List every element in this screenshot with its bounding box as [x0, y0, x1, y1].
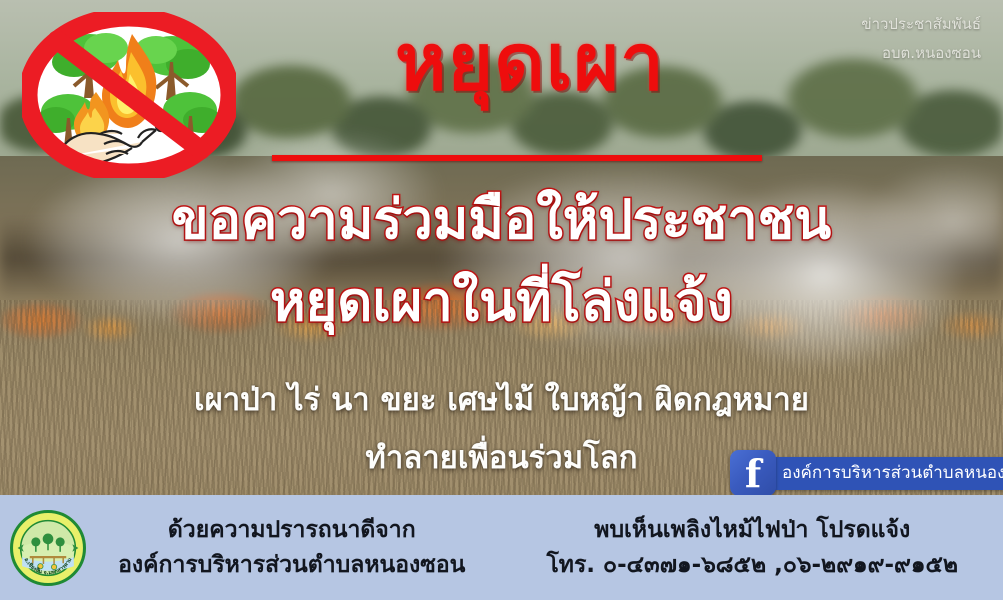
no-burning-prohibition-icon: [22, 12, 236, 178]
footer-left-line-1: ด้วยความปรารถนาดีจาก: [82, 513, 502, 548]
facebook-glyph: f: [730, 453, 776, 495]
footer-left-block: อบต.หนองซอน อ.เชียงยืน จ.มหาสารคาม ด้วยค…: [0, 510, 502, 586]
phone-numbers[interactable]: โทร. ๐-๔๓๗๑-๖๘๕๒ ,๐๖-๒๙๑๙-๙๑๕๒: [502, 548, 1003, 583]
fire-prevention-poster: ข่าวประชาสัมพันธ์ อบต.หนองซอน หยุดเผา ขอ…: [0, 0, 1003, 600]
top-right-agency-note: ข่าวประชาสัมพันธ์ อบต.หนองซอน: [861, 10, 981, 67]
main-message-line-1: ขอความร่วมมือให้ประชาชน: [0, 190, 1003, 249]
news-label: ข่าวประชาสัมพันธ์: [861, 10, 981, 39]
footer-left-text: ด้วยความปรารถนาดีจาก องค์การบริหารส่วนตำ…: [82, 513, 502, 582]
footer-bar: อบต.หนองซอน อ.เชียงยืน จ.มหาสารคาม ด้วยค…: [0, 495, 1003, 600]
agency-abbrev-label: อบต.หนองซอน: [861, 39, 981, 68]
municipality-seal-logo: อบต.หนองซอน อ.เชียงยืน จ.มหาสารคาม: [10, 510, 86, 586]
main-message-line-2: หยุดเผาในที่โล่งแจ้ง: [0, 272, 1003, 331]
footer-right-block: พบเห็นเพลิงไหม้ไฟป่า โปรดแจ้ง โทร. ๐-๔๓๗…: [502, 513, 1003, 582]
report-fire-label: พบเห็นเพลิงไหม้ไฟป่า โปรดแจ้ง: [502, 513, 1003, 548]
title-divider-rule: [272, 155, 762, 161]
sub-message-line-1: เผาป่า ไร่ นา ขยะ เศษไม้ ใบหญ้า ผิดกฎหมา…: [0, 382, 1003, 419]
footer-left-line-2: องค์การบริหารส่วนตำบลหนองซอน: [82, 548, 502, 583]
facebook-page-name[interactable]: องค์การบริหารส่วนตำบลหนองซอน: [770, 457, 1003, 490]
facebook-icon[interactable]: f: [730, 450, 776, 496]
facebook-badge[interactable]: f องค์การบริหารส่วนตำบลหนองซอน: [730, 450, 1003, 496]
page-title: หยุดเผา: [300, 24, 760, 104]
